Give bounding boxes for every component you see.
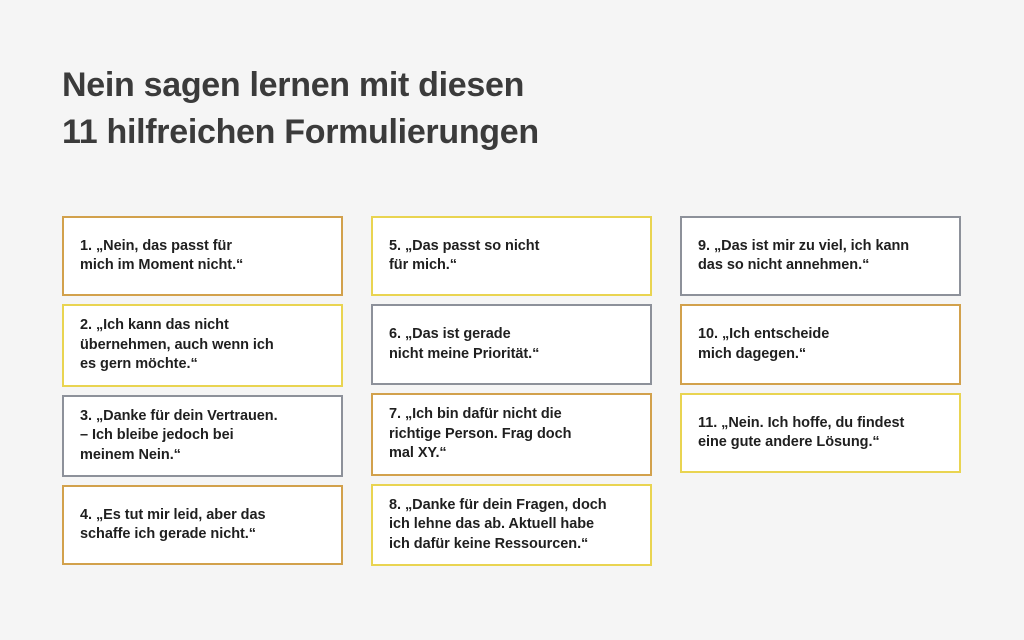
phrase-card-11: 11. „Nein. Ich hoffe, du findest eine gu… [680, 393, 961, 473]
phrase-card-text: 11. „Nein. Ich hoffe, du findest eine gu… [698, 414, 904, 453]
phrase-card-text: 7. „Ich bin dafür nicht die richtige Per… [389, 405, 571, 464]
phrase-card-10: 10. „Ich entscheide mich dagegen.“ [680, 304, 961, 385]
phrase-card-text: 9. „Das ist mir zu viel, ich kann das so… [698, 237, 909, 276]
phrase-card-5: 5. „Das passt so nicht für mich.“ [371, 216, 652, 296]
phrase-card-8: 8. „Danke für dein Fragen, doch ich lehn… [371, 484, 652, 567]
phrase-column-1: 1. „Nein, das passt für mich im Moment n… [62, 216, 343, 566]
phrase-card-2: 2. „Ich kann das nicht übernehmen, auch … [62, 304, 343, 387]
page-title-line-2: 11 hilfreichen Formulierungen [62, 109, 762, 156]
phrase-card-text: 1. „Nein, das passt für mich im Moment n… [80, 237, 243, 276]
phrase-column-2: 5. „Das passt so nicht für mich.“ 6. „Da… [371, 216, 652, 566]
phrase-card-text: 5. „Das passt so nicht für mich.“ [389, 237, 539, 276]
phrase-card-9: 9. „Das ist mir zu viel, ich kann das so… [680, 216, 961, 296]
phrase-card-grid: 1. „Nein, das passt für mich im Moment n… [62, 216, 962, 566]
phrase-card-7: 7. „Ich bin dafür nicht die richtige Per… [371, 393, 652, 476]
phrase-card-text: 10. „Ich entscheide mich dagegen.“ [698, 325, 829, 364]
phrase-column-3: 9. „Das ist mir zu viel, ich kann das so… [680, 216, 961, 566]
phrase-card-text: 4. „Es tut mir leid, aber das schaffe ic… [80, 506, 266, 545]
phrase-card-text: 2. „Ich kann das nicht übernehmen, auch … [80, 316, 274, 375]
phrase-card-1: 1. „Nein, das passt für mich im Moment n… [62, 216, 343, 296]
page-title: Nein sagen lernen mit diesen 11 hilfreic… [62, 62, 762, 156]
phrase-card-6: 6. „Das ist gerade nicht meine Priorität… [371, 304, 652, 385]
infographic-poster: Nein sagen lernen mit diesen 11 hilfreic… [0, 0, 1024, 640]
phrase-card-text: 6. „Das ist gerade nicht meine Priorität… [389, 325, 539, 364]
page-title-line-1: Nein sagen lernen mit diesen [62, 62, 762, 109]
phrase-card-text: 3. „Danke für dein Vertrauen. – Ich blei… [80, 407, 278, 466]
phrase-card-text: 8. „Danke für dein Fragen, doch ich lehn… [389, 496, 607, 555]
phrase-card-3: 3. „Danke für dein Vertrauen. – Ich blei… [62, 395, 343, 478]
phrase-card-4: 4. „Es tut mir leid, aber das schaffe ic… [62, 485, 343, 565]
